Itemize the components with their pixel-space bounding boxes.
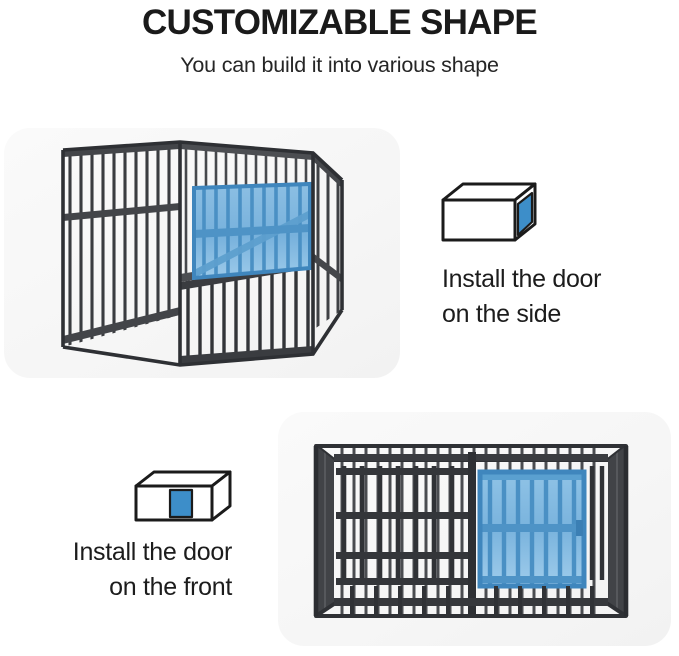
dog-crate-side-door-photo	[60, 140, 360, 375]
cage-left-wall	[63, 140, 180, 370]
caption-line-2: on the side	[442, 297, 672, 332]
caption-line-1: Install the door	[442, 262, 672, 297]
cage-right-front-bars	[592, 466, 602, 580]
cage-left-end-wall	[316, 446, 336, 618]
customizable-shape-page: CUSTOMIZABLE SHAPE You can build it into…	[0, 0, 679, 656]
page-subtitle: You can build it into various shape	[0, 42, 679, 80]
caption-door-on-front: Install the door on the front	[6, 535, 232, 605]
caption-line-2: on the front	[6, 570, 232, 605]
header: CUSTOMIZABLE SHAPE You can build it into…	[0, 0, 679, 80]
caption-line-1: Install the door	[6, 535, 232, 570]
cage-left-front-panel	[336, 452, 476, 614]
dog-crate-front-door-photo	[292, 428, 658, 633]
page-title: CUSTOMIZABLE SHAPE	[0, 0, 679, 42]
caption-door-on-side: Install the door on the side	[442, 262, 672, 332]
highlighted-front-door	[478, 468, 586, 590]
box-door-on-front-icon	[134, 470, 234, 541]
box-door-on-side-icon	[441, 182, 538, 259]
